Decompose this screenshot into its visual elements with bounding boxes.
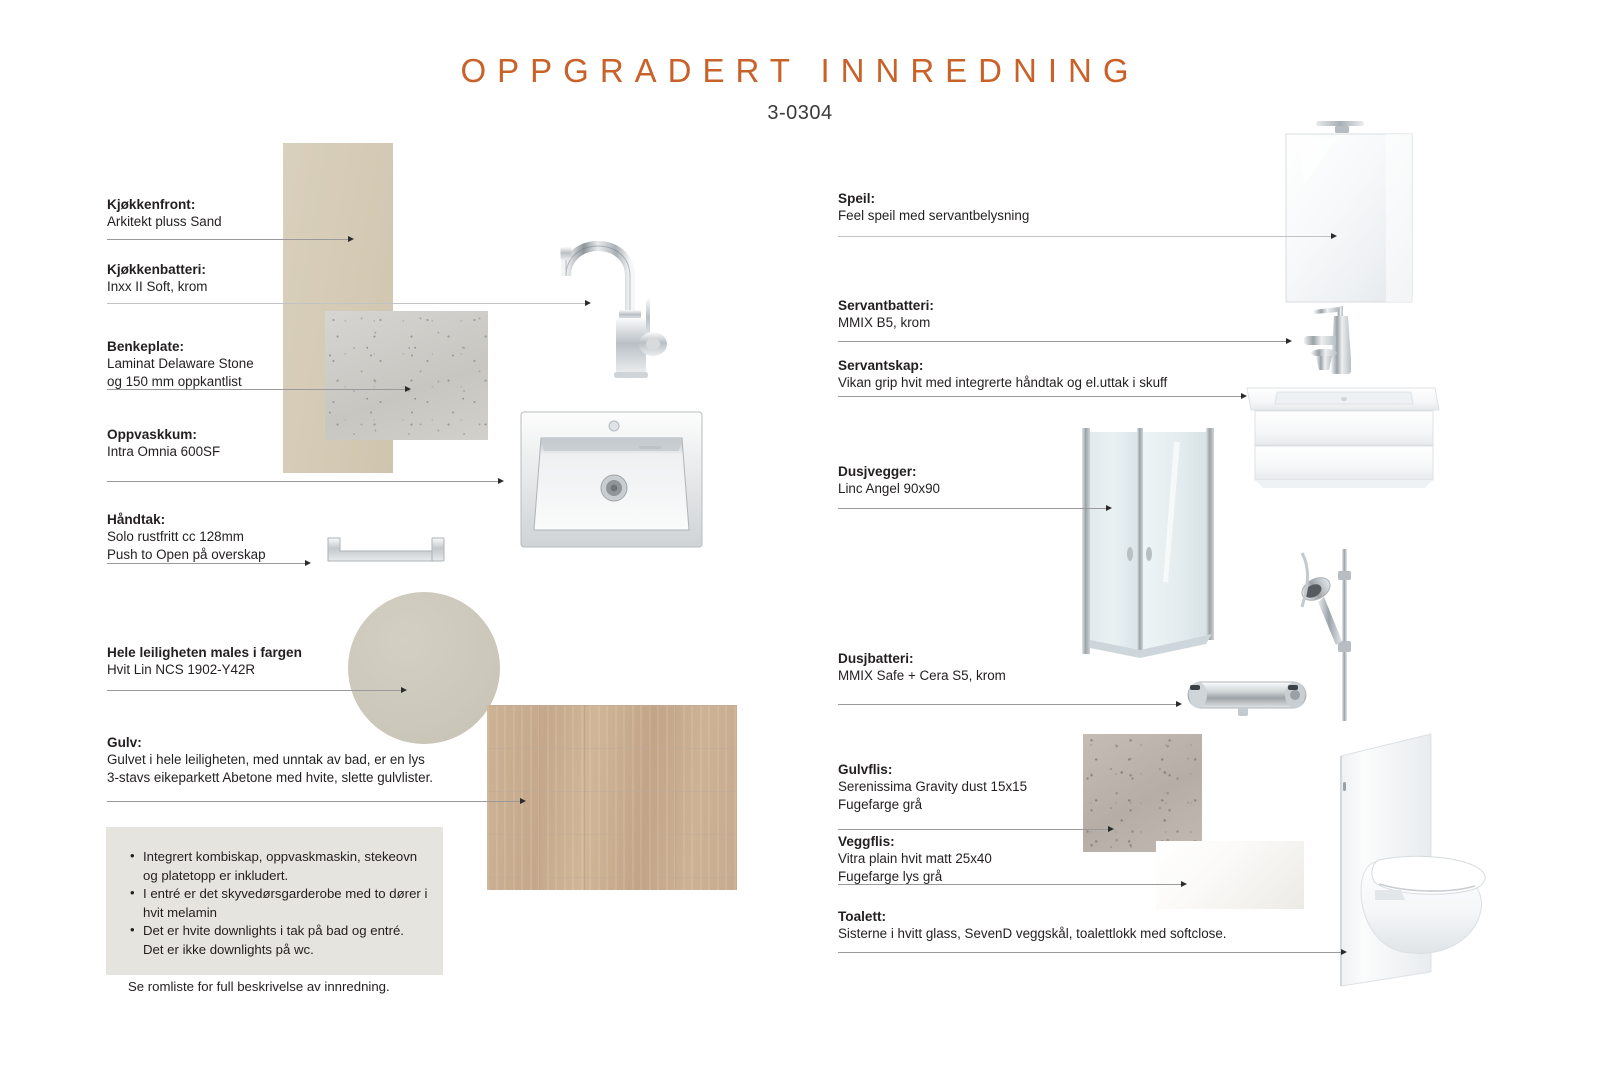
spec-label: Veggflis: bbox=[838, 833, 992, 850]
shower-enclosure-image bbox=[1056, 412, 1223, 674]
spec-oppvaskkum: Oppvaskkum: Intra Omnia 600SF bbox=[107, 426, 220, 461]
spec-handtak: Håndtak: Solo rustfritt cc 128mm Push to… bbox=[107, 511, 266, 563]
list-item: I entré er det skyvedørsgarderobe med to… bbox=[128, 885, 443, 922]
leader-line bbox=[107, 801, 522, 802]
leader-arrow bbox=[498, 478, 504, 484]
note-line: I entré er det skyvedørsgarderobe med to… bbox=[143, 886, 427, 901]
spec-label: Dusjbatteri: bbox=[838, 650, 1006, 667]
spec-servantbatteri: Servantbatteri: MMIX B5, krom bbox=[838, 297, 934, 332]
leader-line bbox=[107, 389, 407, 390]
leader-arrow bbox=[1331, 233, 1337, 239]
spec-kjokkenbatteri: Kjøkkenbatteri: Inxx II Soft, krom bbox=[107, 261, 207, 296]
note-line: Det er ikke downlights på wc. bbox=[143, 942, 314, 957]
spec-label: Gulvflis: bbox=[838, 761, 1027, 778]
bathroom-floor-tile-swatch bbox=[1083, 734, 1202, 852]
wall-paint-color-circle bbox=[348, 592, 500, 744]
spec-label: Kjøkkenbatteri: bbox=[107, 261, 207, 278]
leader-arrow bbox=[1286, 338, 1292, 344]
worktop-stone-swatch bbox=[325, 311, 488, 440]
spec-value-line2: 3-stavs eikeparkett Abetone med hvite, s… bbox=[107, 769, 433, 787]
spec-sheet: OPPGRADERT INNREDNING 3-0304 bbox=[0, 0, 1600, 1067]
spec-dusjbatteri: Dusjbatteri: MMIX Safe + Cera S5, krom bbox=[838, 650, 1006, 685]
list-item: Integrert kombiskap, oppvaskmaskin, stek… bbox=[128, 848, 443, 885]
leader-arrow bbox=[305, 560, 311, 566]
leader-line bbox=[838, 236, 1333, 237]
spec-value-line2: Fugefarge grå bbox=[838, 796, 1027, 814]
spec-gulvflis: Gulvflis: Serenissima Gravity dust 15x15… bbox=[838, 761, 1027, 813]
spec-value-line1: Gulvet i hele leiligheten, med unntak av… bbox=[107, 751, 433, 769]
spec-value-line2: og 150 mm oppkantlist bbox=[107, 373, 254, 391]
spec-value-line1: Serenissima Gravity dust 15x15 bbox=[838, 778, 1027, 796]
spec-gulv: Gulv: Gulvet i hele leiligheten, med unn… bbox=[107, 734, 433, 786]
leader-line bbox=[838, 341, 1288, 342]
spec-value-line2: Push to Open på overskap bbox=[107, 546, 266, 564]
spec-label: Toalett: bbox=[838, 908, 1227, 925]
spec-veggflis: Veggflis: Vitra plain hvit matt 25x40 Fu… bbox=[838, 833, 992, 885]
spec-label: Dusjvegger: bbox=[838, 463, 940, 480]
spec-label: Gulv: bbox=[107, 734, 433, 751]
spec-value: Hvit Lin NCS 1902-Y42R bbox=[107, 661, 302, 679]
leader-line bbox=[838, 508, 1108, 509]
note-line: og platetopp er inkludert. bbox=[143, 868, 288, 883]
spec-label: Oppvaskkum: bbox=[107, 426, 220, 443]
spec-label: Servantskap: bbox=[838, 357, 1167, 374]
leader-arrow bbox=[585, 300, 591, 306]
spec-value: Feel speil med servantbelysning bbox=[838, 207, 1029, 225]
leader-line bbox=[107, 481, 500, 482]
spec-label: Speil: bbox=[838, 190, 1029, 207]
spec-label: Servantbatteri: bbox=[838, 297, 934, 314]
leader-line bbox=[838, 829, 1110, 830]
leader-arrow bbox=[1176, 701, 1182, 707]
cabinet-handle-image bbox=[324, 536, 448, 564]
spec-label: Håndtak: bbox=[107, 511, 266, 528]
spec-value-line2: Fugefarge lys grå bbox=[838, 868, 992, 886]
leader-line bbox=[838, 952, 1343, 953]
bathroom-wall-tile-swatch bbox=[1156, 841, 1304, 909]
leader-line bbox=[838, 704, 1178, 705]
spec-maling: Hele leiligheten males i fargen Hvit Lin… bbox=[107, 644, 302, 679]
spec-kjokkenfront: Kjøkkenfront: Arkitekt pluss Sand bbox=[107, 196, 222, 231]
spec-value: MMIX B5, krom bbox=[838, 314, 934, 332]
leader-arrow bbox=[1108, 826, 1114, 832]
note-line: Det er hvite downlights i tak på bad og … bbox=[143, 923, 404, 938]
leader-arrow bbox=[1181, 881, 1187, 887]
leader-line bbox=[838, 884, 1183, 885]
leader-line bbox=[107, 303, 587, 304]
mirror-cabinet-image bbox=[1278, 114, 1420, 314]
spec-servantskap: Servantskap: Vikan grip hvit med integre… bbox=[838, 357, 1167, 392]
notes-box: Integrert kombiskap, oppvaskmaskin, stek… bbox=[106, 827, 443, 975]
toilet-image bbox=[1335, 714, 1505, 989]
leader-arrow bbox=[1241, 393, 1247, 399]
spec-toalett: Toalett: Sisterne i hvitt glass, SevenD … bbox=[838, 908, 1227, 943]
spec-value-line1: Laminat Delaware Stone bbox=[107, 355, 254, 373]
note-line: Integrert kombiskap, oppvaskmaskin, stek… bbox=[143, 849, 417, 864]
leader-line bbox=[107, 239, 350, 240]
note-line: hvit melamin bbox=[143, 905, 217, 920]
spec-label: Kjøkkenfront: bbox=[107, 196, 222, 213]
leader-arrow bbox=[405, 386, 411, 392]
vanity-unit-image bbox=[1243, 368, 1443, 493]
spec-value: Intra Omnia 600SF bbox=[107, 443, 220, 461]
spec-value: Linc Angel 90x90 bbox=[838, 480, 940, 498]
spec-value: MMIX Safe + Cera S5, krom bbox=[838, 667, 1006, 685]
spec-label: Benkeplate: bbox=[107, 338, 254, 355]
spec-value: Vikan grip hvit med integrerte håndtak o… bbox=[838, 374, 1167, 392]
spec-value-line1: Vitra plain hvit matt 25x40 bbox=[838, 850, 992, 868]
leader-line bbox=[838, 396, 1243, 397]
notes-list: Integrert kombiskap, oppvaskmaskin, stek… bbox=[128, 848, 443, 959]
spec-value: Inxx II Soft, krom bbox=[107, 278, 207, 296]
leader-arrow bbox=[1106, 505, 1112, 511]
leader-line bbox=[107, 563, 307, 564]
shower-rail-image bbox=[1298, 545, 1368, 725]
kitchen-sink-image bbox=[519, 404, 704, 554]
page-title: OPPGRADERT INNREDNING bbox=[0, 52, 1600, 90]
leader-line bbox=[107, 690, 403, 691]
kitchen-faucet-image bbox=[520, 198, 680, 383]
leader-arrow bbox=[1341, 949, 1347, 955]
spec-value-line1: Solo rustfritt cc 128mm bbox=[107, 528, 266, 546]
leader-arrow bbox=[348, 236, 354, 242]
spec-value: Arkitekt pluss Sand bbox=[107, 213, 222, 231]
list-item: Det er hvite downlights i tak på bad og … bbox=[128, 922, 443, 959]
spec-speil: Speil: Feel speil med servantbelysning bbox=[838, 190, 1029, 225]
leader-arrow bbox=[401, 687, 407, 693]
notes-footer: Se romliste for full beskrivelse av innr… bbox=[128, 978, 443, 996]
spec-label: Hele leiligheten males i fargen bbox=[107, 644, 302, 661]
spec-dusjvegger: Dusjvegger: Linc Angel 90x90 bbox=[838, 463, 940, 498]
shower-mixer-image bbox=[1182, 672, 1312, 722]
spec-value: Sisterne i hvitt glass, SevenD veggskål,… bbox=[838, 925, 1227, 943]
leader-arrow bbox=[520, 798, 526, 804]
spec-benkeplate: Benkeplate: Laminat Delaware Stone og 15… bbox=[107, 338, 254, 390]
